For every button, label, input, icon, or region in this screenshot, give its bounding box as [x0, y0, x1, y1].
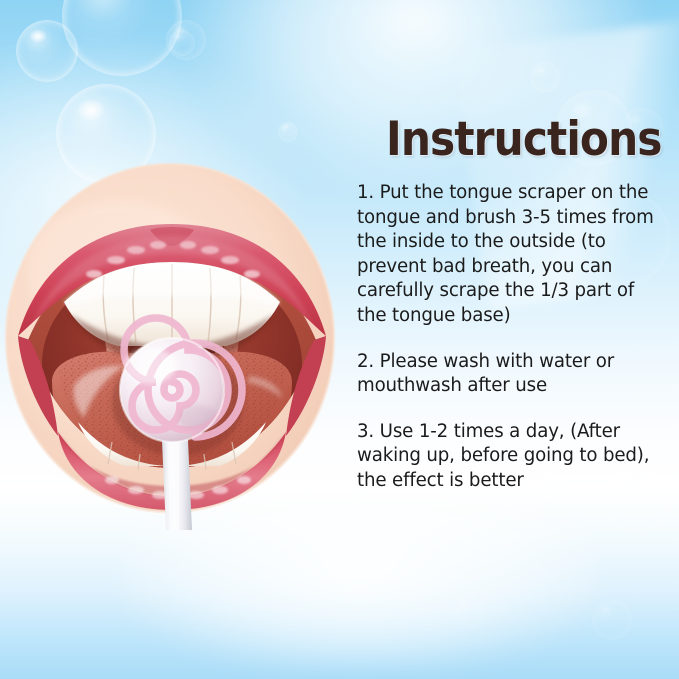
instructions-list: 1. Put the tongue scraper on the tongue …	[357, 181, 657, 494]
bubble-icon	[530, 62, 560, 92]
bubble-icon	[455, 598, 483, 626]
open-mouth-illustration	[0, 150, 345, 530]
instruction-step-2: 2. Please wash with water or mouthwash a…	[357, 350, 657, 399]
bubble-icon	[592, 600, 632, 640]
instructions-poster: Instructions 1. Put the tongue scraper o…	[0, 0, 679, 679]
bubble-icon	[169, 30, 195, 56]
page-title: Instructions	[386, 116, 662, 163]
instruction-step-3: 3. Use 1-2 times a day, (After waking up…	[357, 420, 657, 494]
instruction-step-1: 1. Put the tongue scraper on the tongue …	[357, 181, 657, 329]
bubble-icon	[282, 123, 296, 137]
